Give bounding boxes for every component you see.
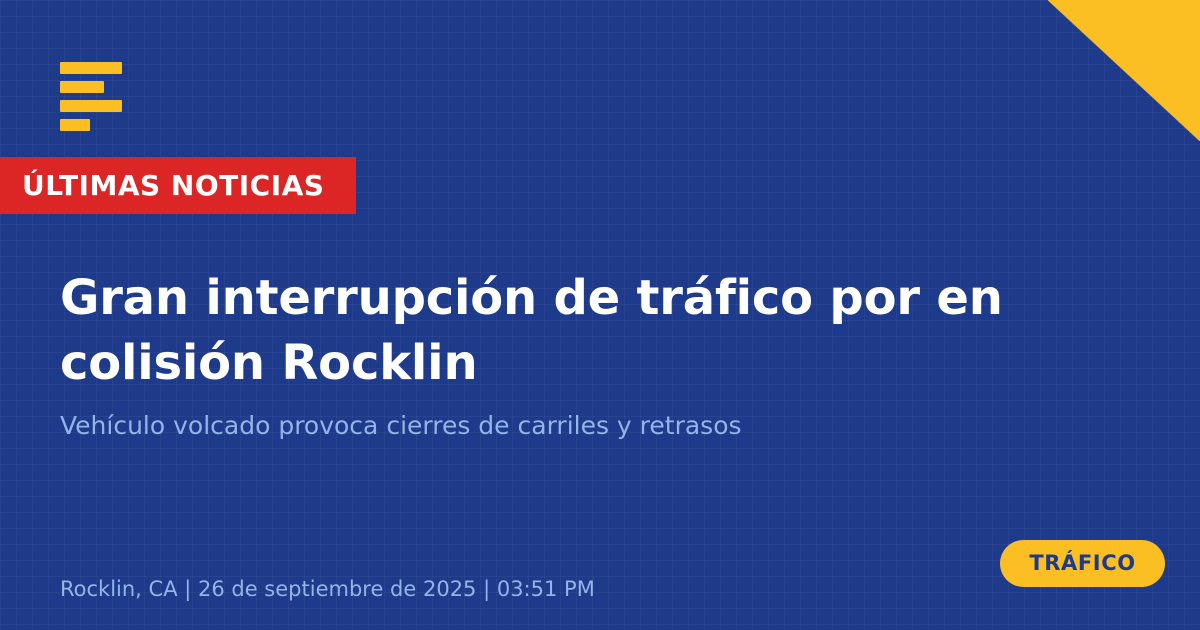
- news-graphic-card: ÚLTIMAS NOTICIAS Gran interrupción de tr…: [0, 0, 1200, 630]
- logo-bar-4: [60, 119, 90, 131]
- logo-bar-1: [60, 62, 122, 74]
- subtitle-text: Vehículo volcado provoca cierres de carr…: [60, 409, 1080, 443]
- logo-bar-3: [60, 100, 122, 112]
- category-badge[interactable]: TRÁFICO: [1000, 540, 1165, 587]
- headline-text: Gran interrupción de tráfico por en coli…: [60, 266, 1070, 396]
- brand-logo[interactable]: [60, 62, 122, 131]
- corner-accent-triangle: [1048, 0, 1200, 141]
- breaking-news-banner: ÚLTIMAS NOTICIAS: [0, 157, 356, 214]
- logo-bar-2: [60, 81, 104, 93]
- category-badge-label: TRÁFICO: [1029, 553, 1135, 574]
- footer-meta-line: Rocklin, CA | 26 de septiembre de 2025 |…: [60, 575, 595, 603]
- breaking-news-label: ÚLTIMAS NOTICIAS: [22, 172, 324, 200]
